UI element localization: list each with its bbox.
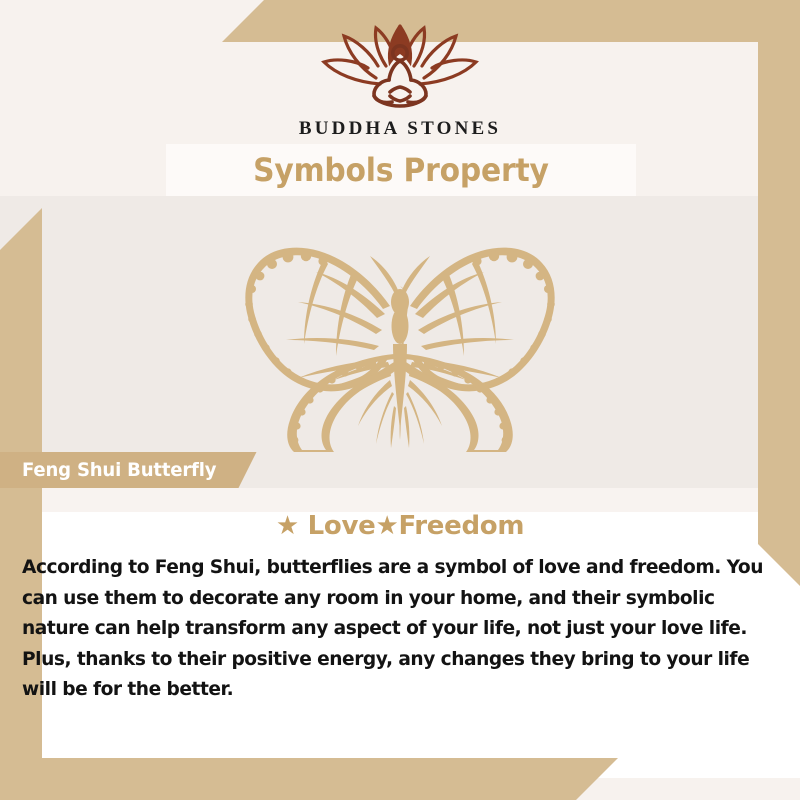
- lotus-meditation-figure-icon: [306, 22, 494, 114]
- body-paragraph: According to Feng Shui, butterflies are …: [22, 553, 784, 706]
- brand-name: BUDDHA STONES: [299, 118, 501, 140]
- title-banner: Symbols Property: [166, 144, 636, 196]
- section-subtitle: ★ Love★Freedom: [0, 511, 800, 541]
- ribbon-label: Feng Shui Butterfly: [0, 452, 257, 488]
- frame-bar-bottom: [0, 758, 618, 800]
- brand-logo: BUDDHA STONES: [0, 22, 800, 140]
- butterfly-illustration: [0, 232, 800, 454]
- page-title: Symbols Property: [253, 151, 549, 189]
- infographic-page: BUDDHA STONES Symbols Property: [0, 0, 800, 800]
- description-panel-fade: [0, 488, 800, 512]
- butterfly-icon: [224, 234, 576, 452]
- ribbon-label-text: Feng Shui Butterfly: [22, 459, 216, 481]
